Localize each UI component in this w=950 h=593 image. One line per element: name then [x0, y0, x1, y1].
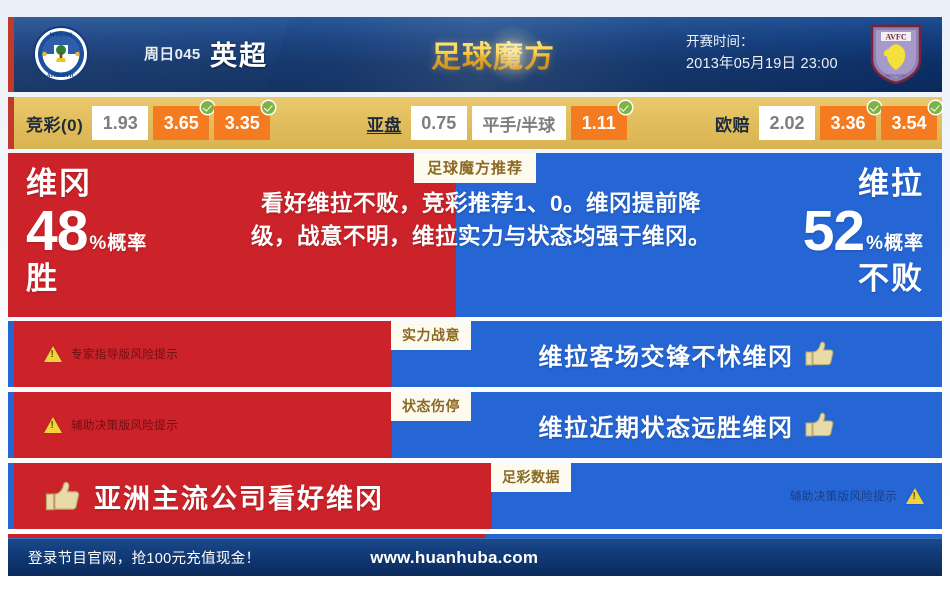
odds-group-label: 欧赔	[715, 111, 750, 136]
svg-text:PREPARED: PREPARED	[886, 73, 906, 78]
odds-cell[interactable]: 1.93	[92, 106, 148, 140]
thumbs-up-icon	[44, 481, 80, 512]
svg-text:WIGAN: WIGAN	[49, 32, 72, 39]
recommendation-badge: 足球魔方推荐	[414, 153, 536, 183]
svg-text:AVFC: AVFC	[885, 33, 906, 42]
away-outcome-label: 不败	[803, 261, 924, 297]
odds-value: 0.75	[421, 113, 456, 134]
odds-cell[interactable]: 3.65	[153, 106, 209, 140]
odds-cell[interactable]: 平手/半球	[472, 106, 566, 140]
brand-logo: 足球魔方	[423, 30, 563, 78]
check-badge-icon	[868, 101, 881, 114]
row-data-cell: 足彩数据 辅助决策版风险提示	[492, 463, 942, 529]
row-message-text: 亚洲主流公司看好维冈	[94, 477, 384, 516]
row-message-text: 维拉客场交锋不怵维冈	[539, 337, 794, 372]
kickoff-label: 开赛时间：	[686, 31, 838, 53]
warning-triangle-icon	[906, 488, 924, 504]
odds-value: 3.36	[830, 113, 865, 134]
thumbs-up-icon	[804, 341, 834, 367]
check-badge-icon	[619, 101, 632, 114]
odds-bar: 竞彩(0) 1.93 3.65 3.35 亚盘 0.75 平手/半球	[8, 97, 942, 149]
home-outcome-label: 胜	[26, 261, 147, 297]
odds-group-label: 亚盘	[367, 111, 402, 136]
row-tag: 实力战意	[391, 321, 471, 350]
odds-group-european: 欧赔 2.02 3.36 3.54	[703, 97, 942, 149]
kickoff-value: 2013年05月19日 23:00	[686, 53, 838, 75]
risk-note: 辅助决策版风险提示	[790, 488, 942, 504]
row-risk-cell: 辅助决策版风险提示	[14, 392, 392, 458]
row-tag: 足彩数据	[491, 463, 571, 492]
row-message: 亚洲主流公司看好维冈	[14, 477, 384, 516]
odds-value: 1.11	[582, 113, 616, 134]
footer-promo-text: 登录节目官网，抢100元充值现金！	[28, 547, 260, 568]
odds-cell[interactable]: 2.02	[759, 106, 815, 140]
away-probability-value: 52	[803, 203, 864, 260]
row-message: 维拉客场交锋不怵维冈	[392, 337, 942, 372]
odds-cell[interactable]: 3.35	[214, 106, 270, 140]
match-number: 周日045	[144, 43, 201, 64]
warning-triangle-icon	[44, 417, 62, 433]
match-header: WIGAN ATHLETIC 周日045 英超 足球魔方 开赛时间： 2013年…	[8, 17, 942, 92]
row-risk-cell: 专家指导版风险提示	[14, 321, 392, 387]
odds-value: 3.65	[164, 113, 199, 134]
analysis-row: 亚洲主流公司看好维冈 足彩数据 辅助决策版风险提示	[8, 463, 942, 529]
odds-group-asian-handicap: 亚盘 0.75 平手/半球 1.11	[355, 97, 632, 149]
analysis-row: 辅助决策版风险提示 状态伤停 维拉近期状态远胜维冈	[8, 392, 942, 458]
home-team-name: 维冈	[26, 167, 147, 201]
footer-website[interactable]: www.huanhuba.com	[370, 548, 538, 568]
odds-group-label: 竞彩(0)	[26, 111, 83, 136]
odds-cell[interactable]: 0.75	[411, 106, 467, 140]
risk-note: 专家指导版风险提示	[14, 346, 178, 362]
row-highlight-cell: 亚洲主流公司看好维冈	[14, 463, 492, 529]
row-message-cell: 状态伤停 维拉近期状态远胜维冈	[392, 392, 942, 458]
away-team-block: 维拉 52 %概率 不败	[803, 167, 924, 297]
analysis-rows: 专家指导版风险提示 实力战意 维拉客场交锋不怵维冈 辅助决策版风险	[8, 321, 942, 534]
odds-cell[interactable]: 3.36	[820, 106, 876, 140]
away-team-crest-icon: AVFC PREPARED	[868, 23, 924, 85]
odds-cell[interactable]: 1.11	[571, 106, 627, 140]
check-badge-icon	[201, 101, 214, 114]
odds-value: 平手/半球	[482, 111, 555, 136]
odds-value: 1.93	[103, 113, 138, 134]
footer-bar: 登录节目官网，抢100元充值现金！ www.huanhuba.com	[8, 538, 942, 576]
odds-group-jingcai: 竞彩(0) 1.93 3.65 3.35	[14, 97, 275, 149]
odds-value: 3.54	[891, 113, 926, 134]
risk-note-text: 辅助决策版风险提示	[71, 417, 178, 433]
home-probability-suffix: %概率	[89, 234, 147, 260]
away-probability-suffix: %概率	[866, 234, 924, 260]
recommendation-text: 看好维拉不败，竞彩推荐1、0。维冈提前降级，战意不明，维拉实力与状态均强于维冈。	[240, 187, 722, 253]
brand-logo-text: 足球魔方	[431, 32, 555, 76]
warning-triangle-icon	[44, 346, 62, 362]
row-message-text: 维拉近期状态远胜维冈	[539, 408, 794, 443]
risk-note-text: 辅助决策版风险提示	[790, 488, 897, 504]
row-message-cell: 实力战意 维拉客场交锋不怵维冈	[392, 321, 942, 387]
home-team-crest-icon: WIGAN ATHLETIC	[32, 25, 90, 83]
home-team-block: 维冈 48 %概率 胜	[26, 167, 147, 297]
svg-text:ATHLETIC: ATHLETIC	[46, 73, 75, 79]
analysis-row: 专家指导版风险提示 实力战意 维拉客场交锋不怵维冈	[8, 321, 942, 387]
check-badge-icon	[929, 101, 942, 114]
odds-value: 3.35	[225, 113, 260, 134]
kickoff-time: 开赛时间： 2013年05月19日 23:00	[686, 31, 838, 75]
row-message: 维拉近期状态远胜维冈	[392, 408, 942, 443]
check-badge-icon	[262, 101, 275, 114]
thumbs-up-icon	[804, 412, 834, 438]
away-team-name: 维拉	[803, 167, 924, 201]
odds-cell[interactable]: 3.54	[881, 106, 937, 140]
risk-note-text: 专家指导版风险提示	[71, 346, 178, 362]
risk-note: 辅助决策版风险提示	[14, 417, 178, 433]
odds-value: 2.02	[769, 113, 804, 134]
league-name: 英超	[210, 34, 268, 73]
prediction-panel: 维冈 48 %概率 胜 维拉 52 %概率 不败 足球魔方推荐 看好维拉不败，竞…	[8, 153, 942, 317]
broadcast-graphic: WIGAN ATHLETIC 周日045 英超 足球魔方 开赛时间： 2013年…	[0, 0, 950, 593]
home-probability-value: 48	[26, 203, 87, 260]
row-tag: 状态伤停	[391, 392, 471, 421]
